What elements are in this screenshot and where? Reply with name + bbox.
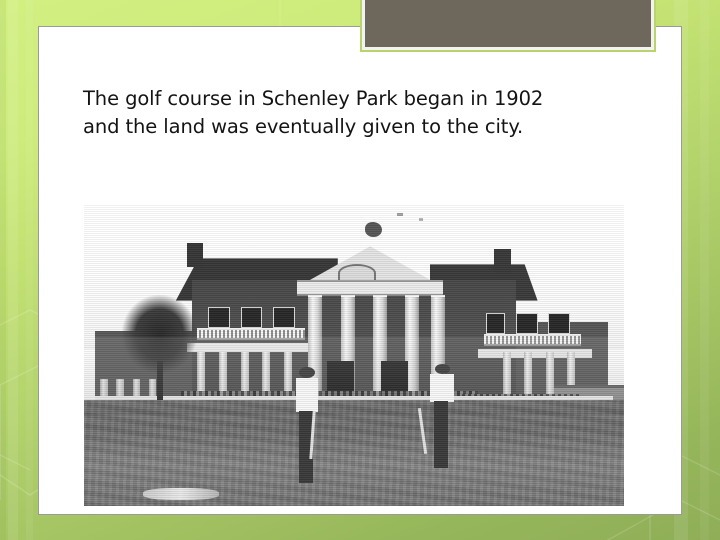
- background-band: [26, 0, 33, 540]
- slide-body-text: The golf course in Schenley Park began i…: [83, 85, 643, 141]
- background-band: [700, 0, 709, 540]
- photo-image: [84, 204, 624, 506]
- photo-grain-overlay: [84, 204, 624, 506]
- slide-content-panel: The golf course in Schenley Park began i…: [38, 26, 682, 515]
- background-band: [8, 0, 18, 540]
- background-band: [0, 0, 6, 540]
- decorative-accent-block: [362, 0, 654, 50]
- slide-canvas: The golf course in Schenley Park began i…: [0, 0, 720, 540]
- historic-photograph: [84, 204, 624, 506]
